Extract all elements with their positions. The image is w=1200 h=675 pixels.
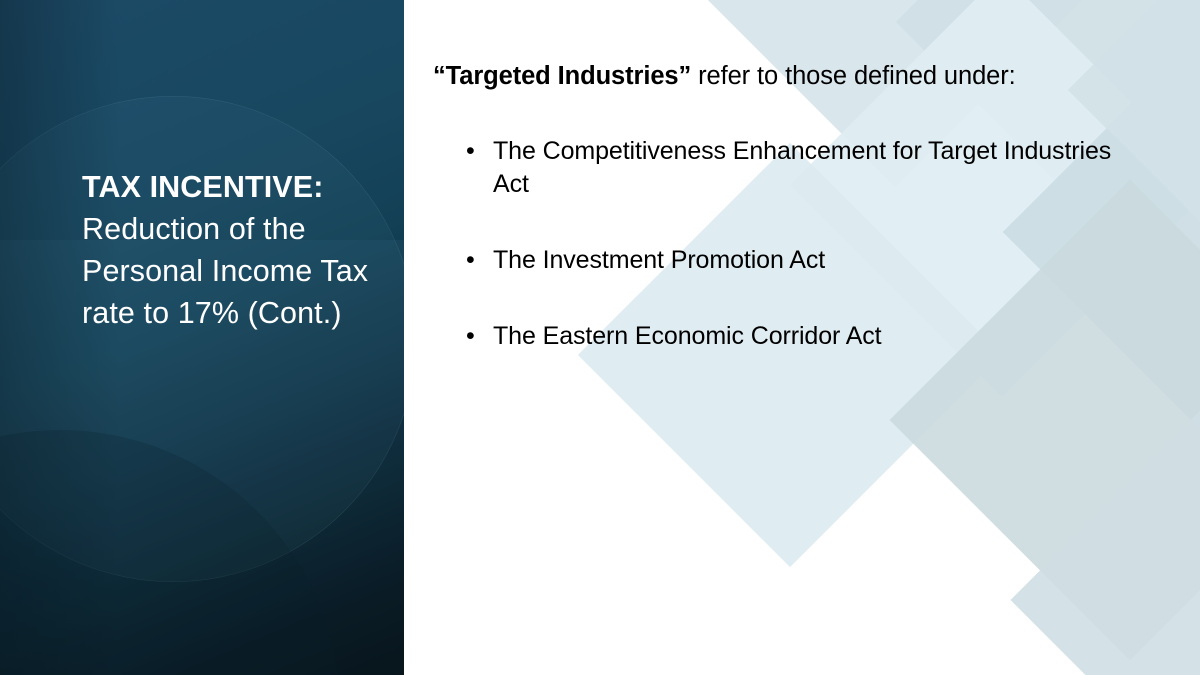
list-item: • The Competitiveness Enhancement for Ta… xyxy=(466,135,1126,201)
bullet-list: • The Competitiveness Enhancement for Ta… xyxy=(466,135,1126,353)
slide-title-subheading: Reduction of the Personal Income Tax rat… xyxy=(82,212,368,330)
content-area: “Targeted Industries” refer to those def… xyxy=(433,0,1133,675)
panel-edge-shade xyxy=(0,0,120,675)
bullet-marker-icon: • xyxy=(466,135,475,168)
list-item: • The Investment Promotion Act xyxy=(466,244,1126,277)
list-item-label: The Investment Promotion Act xyxy=(493,246,825,274)
list-item-label: The Eastern Economic Corridor Act xyxy=(493,322,882,350)
lead-rest-text: refer to those defined under: xyxy=(691,62,1015,90)
lead-paragraph: “Targeted Industries” refer to those def… xyxy=(433,59,1123,93)
bullet-marker-icon: • xyxy=(466,320,475,353)
lead-strong-text: “Targeted Industries” xyxy=(433,62,691,90)
list-item-label: The Competitiveness Enhancement for Targ… xyxy=(493,137,1111,198)
list-item: • The Eastern Economic Corridor Act xyxy=(466,320,1126,353)
slide-canvas: TAX INCENTIVE: Reduction of the Personal… xyxy=(0,0,1200,675)
title-panel: TAX INCENTIVE: Reduction of the Personal… xyxy=(0,0,404,675)
panel-title-text: TAX INCENTIVE: Reduction of the Personal… xyxy=(82,166,372,334)
slide-title-heading: TAX INCENTIVE: xyxy=(82,170,323,204)
bullet-marker-icon: • xyxy=(466,244,475,277)
